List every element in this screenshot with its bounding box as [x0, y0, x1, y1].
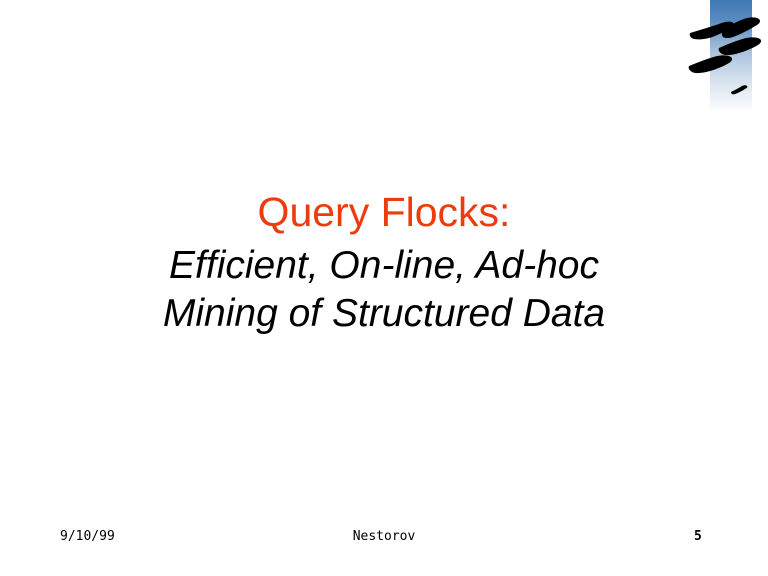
slide-subtitle-line-1: Efficient, On-line, Ad-hoc — [0, 243, 768, 289]
slide-subtitle-line-2: Mining of Structured Data — [0, 291, 768, 337]
slide-title-block: Query Flocks: Efficient, On-line, Ad-hoc… — [0, 188, 768, 337]
footer-author: Nestorov — [0, 528, 768, 546]
slide-title-main: Query Flocks: — [0, 188, 768, 236]
slide-footer: 9/10/99 Nestorov 5 — [0, 528, 768, 552]
footer-page-number: 5 — [694, 528, 702, 546]
corner-decoration-birds — [688, 0, 768, 125]
